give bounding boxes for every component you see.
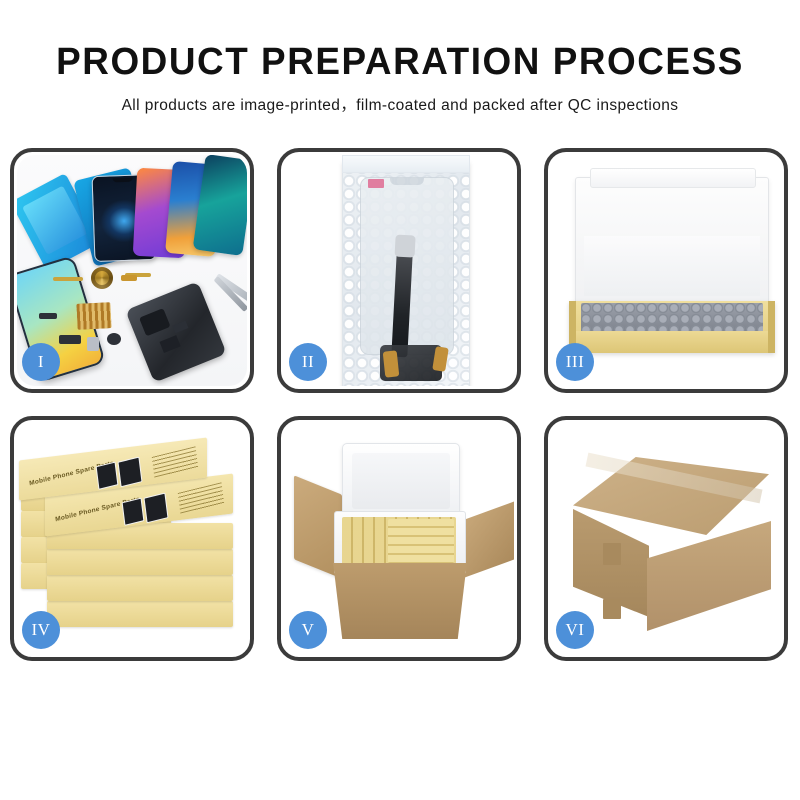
- page-title: PRODUCT PREPARATION PROCESS: [12, 0, 788, 84]
- pink-label-icon: [368, 179, 384, 188]
- carton-front-icon: [324, 563, 476, 639]
- spec-lines: [178, 482, 224, 514]
- step-panel-6[interactable]: VI: [544, 416, 788, 661]
- step-badge-4: IV: [22, 611, 60, 649]
- stacked-box: [47, 575, 233, 601]
- spec-lines: [152, 446, 198, 478]
- page-subtitle: All products are image-printed，film-coat…: [0, 84, 800, 116]
- screen-thumbnail-icon: [117, 457, 142, 488]
- header: PRODUCT PREPARATION PROCESS All products…: [0, 0, 800, 116]
- speaker-icon: [107, 333, 121, 345]
- carton-tab-icon: [603, 543, 621, 565]
- step-panel-4[interactable]: Mobile Phone Spare Parts Mobile Phone Sp…: [10, 416, 254, 661]
- tray-right-edge-icon: [768, 301, 775, 353]
- step-badge-5: V: [289, 611, 327, 649]
- foam-lid-icon: [342, 443, 460, 519]
- step-panel-2[interactable]: II: [277, 148, 521, 393]
- step-badge-6: VI: [556, 611, 594, 649]
- carton-flap-right-icon: [460, 501, 514, 579]
- bottom-whitespace: [0, 740, 800, 800]
- product-preparation-infographic: PRODUCT PREPARATION PROCESS All products…: [0, 0, 800, 800]
- bag-seal-icon: [342, 155, 470, 173]
- wireless-coil-icon: [91, 267, 113, 289]
- carton-tab-icon: [603, 599, 621, 619]
- step-badge-2: II: [289, 343, 327, 381]
- step-badge-3: III: [556, 343, 594, 381]
- step-panel-1[interactable]: I: [10, 148, 254, 393]
- yellow-boxes-row-icon: [388, 519, 454, 563]
- screen-thumbnail-icon: [143, 493, 168, 524]
- flex-cable-icon: [39, 313, 57, 319]
- step-badge-1: I: [22, 343, 60, 381]
- screen-thumbnail-icon: [122, 498, 145, 526]
- screen-thumbnail-icon: [96, 462, 119, 490]
- tray-front-icon: [569, 331, 775, 353]
- carton-right-face-icon: [647, 521, 771, 631]
- stacked-box: [47, 549, 233, 575]
- flex-cable-icon: [53, 277, 83, 281]
- stacked-box: [47, 601, 233, 627]
- connector-icon: [121, 275, 137, 281]
- bubble-wrap-fill-icon: [581, 303, 763, 333]
- foam-lid-icon: [575, 177, 769, 307]
- small-component-icon: [59, 335, 81, 344]
- process-steps-grid: I II: [10, 148, 790, 684]
- small-component-icon: [87, 337, 99, 351]
- phone-back-housing-icon: [125, 281, 227, 383]
- step-panel-5[interactable]: V: [277, 416, 521, 661]
- process-row-1: I II: [10, 148, 790, 393]
- process-row-2: Mobile Phone Spare Parts Mobile Phone Sp…: [10, 416, 790, 661]
- gold-connector-icon: [383, 350, 400, 377]
- step-panel-3[interactable]: III: [544, 148, 788, 393]
- chip-array-icon: [76, 302, 111, 330]
